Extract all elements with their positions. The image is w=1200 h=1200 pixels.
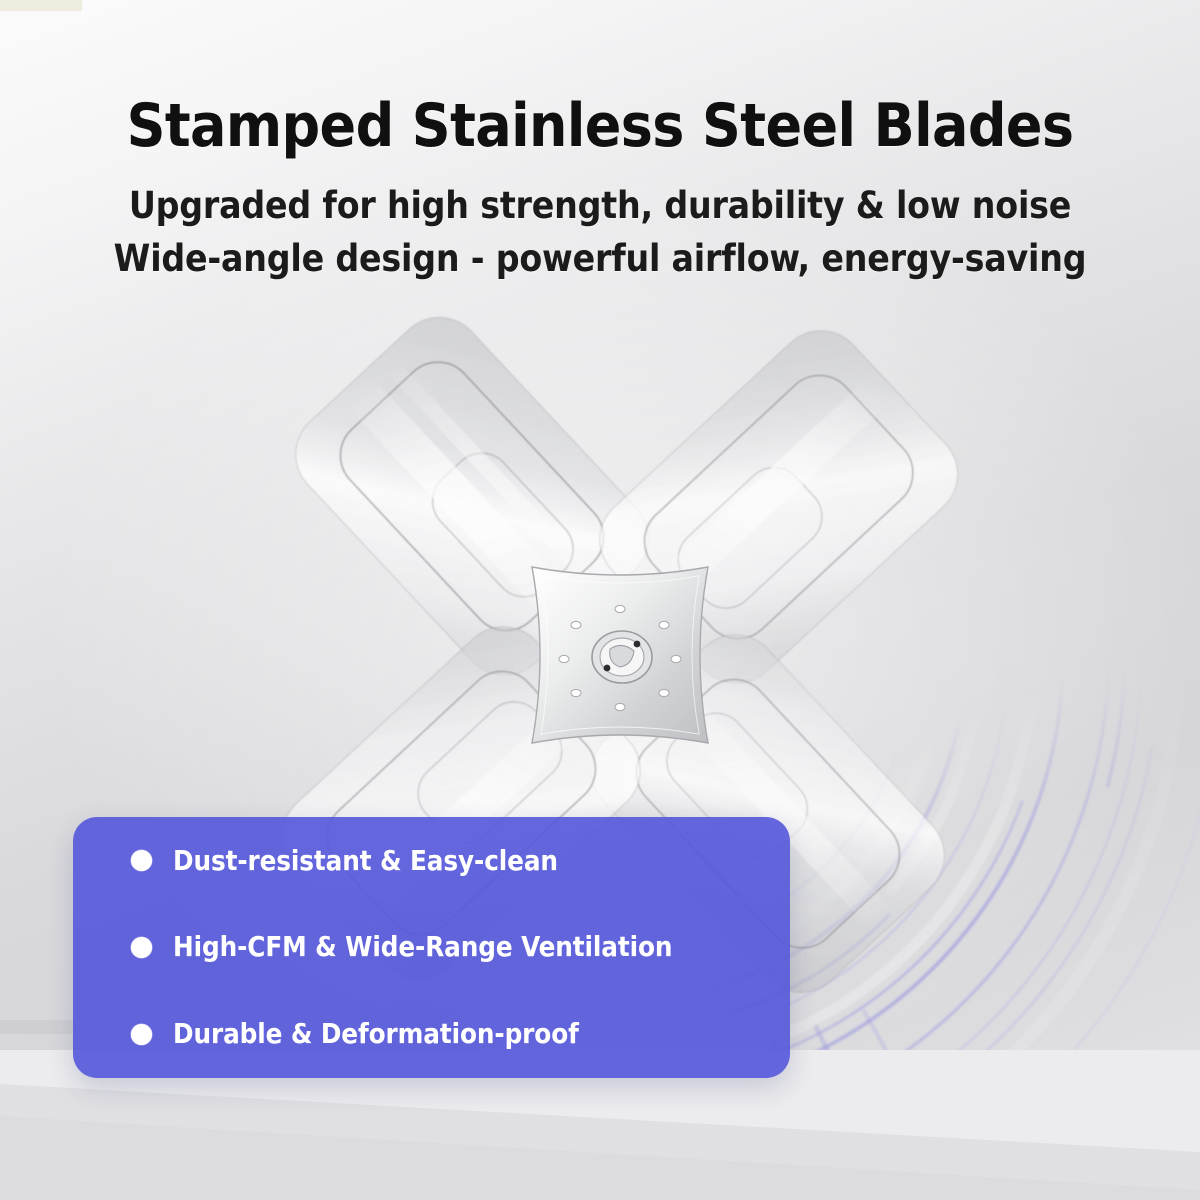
page-title: Stamped Stainless Steel Blades <box>0 0 1200 156</box>
feature-list-item: High-CFM & Wide-Range Ventilation <box>131 904 790 991</box>
subtitle-line-2: Wide-angle design - powerful airflow, en… <box>0 233 1200 286</box>
bullet-dot-icon <box>131 850 152 871</box>
feature-highlight-card: Dust-resistant & Easy-clean High-CFM & W… <box>73 817 790 1078</box>
feature-list-item: Dust-resistant & Easy-clean <box>131 817 790 904</box>
feature-label: Durable & Deformation-proof <box>173 1018 579 1050</box>
bullet-dot-icon <box>131 1024 152 1045</box>
subtitle-line-1: Upgraded for high strength, durability &… <box>0 156 1200 233</box>
feature-label: High-CFM & Wide-Range Ventilation <box>173 931 672 963</box>
product-feature-poster: Stamped Stainless Steel Blades Upgraded … <box>0 0 1200 1200</box>
heading-block: Stamped Stainless Steel Blades Upgraded … <box>0 0 1200 285</box>
fan-hub <box>532 567 708 743</box>
bullet-dot-icon <box>131 937 152 958</box>
feature-label: Dust-resistant & Easy-clean <box>173 845 558 877</box>
feature-list-item: Durable & Deformation-proof <box>131 991 790 1078</box>
